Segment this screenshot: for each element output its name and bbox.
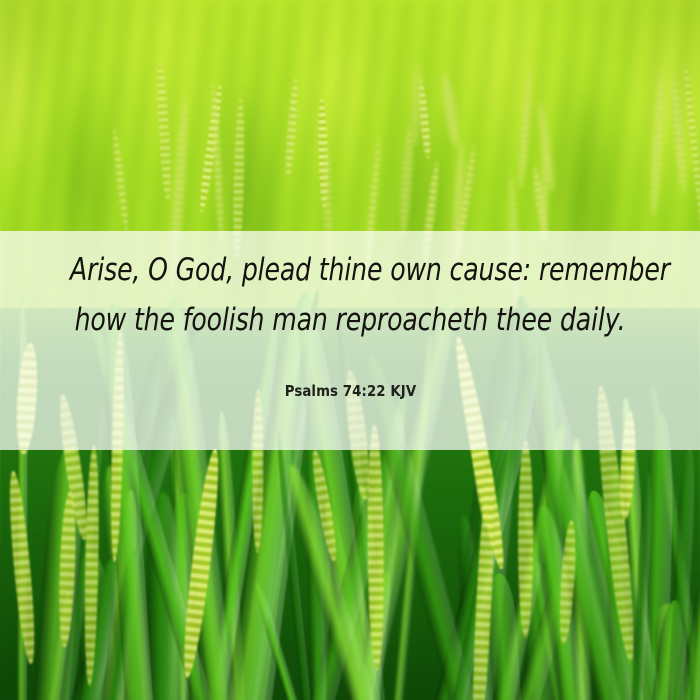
verse-text: Arise, O God, plead thine own cause: rem… bbox=[70, 245, 630, 345]
verse-reference: Psalms 74:22 KJV bbox=[284, 345, 416, 400]
verse-line-2: how the foolish man reproacheth thee dai… bbox=[70, 295, 630, 345]
verse-line-1: Arise, O God, plead thine own cause: rem… bbox=[70, 245, 630, 295]
verse-overlay-band: Arise, O God, plead thine own cause: rem… bbox=[0, 231, 700, 450]
verse-image-card: Arise, O God, plead thine own cause: rem… bbox=[0, 0, 700, 700]
